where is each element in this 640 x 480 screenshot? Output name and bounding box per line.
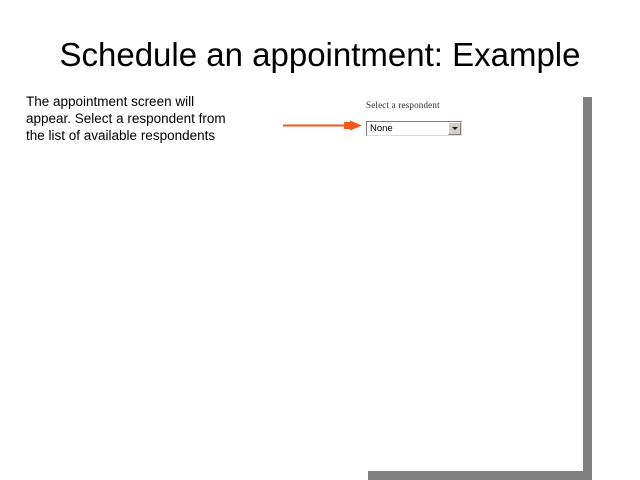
respondent-dropdown[interactable]: None	[366, 121, 462, 136]
right-arrow-callout-icon	[283, 120, 362, 131]
body-text-line-1: The appointment screen will	[26, 93, 256, 110]
chevron-down-icon[interactable]	[448, 122, 461, 135]
screenshot-shadow-right	[583, 97, 592, 471]
body-text-line-2: appear. Select a respondent from	[26, 110, 256, 127]
embedded-screenshot-panel	[364, 92, 584, 471]
body-text-block: The appointment screen will appear. Sele…	[26, 93, 256, 144]
screenshot-shadow-bottom	[368, 471, 592, 480]
respondent-dropdown-value: None	[367, 124, 448, 134]
presentation-slide: Schedule an appointment: Example The app…	[0, 0, 640, 480]
chevron-down-glyph	[452, 127, 458, 130]
page-title: Schedule an appointment: Example	[0, 36, 640, 74]
body-text-line-3: the list of available respondents	[26, 127, 256, 144]
respondent-field-label: Select a respondent	[366, 100, 440, 110]
